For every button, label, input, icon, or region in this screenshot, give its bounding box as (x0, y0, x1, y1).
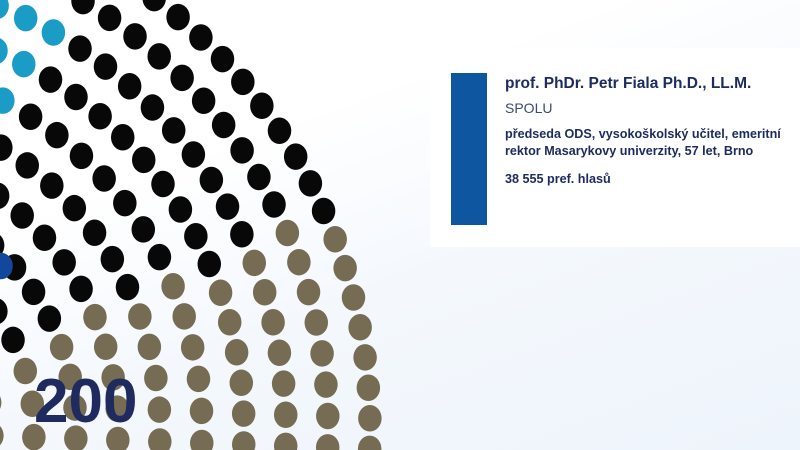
seat-dot[interactable] (111, 124, 134, 151)
seat-dot[interactable] (274, 402, 298, 429)
seat-dot[interactable] (0, 298, 8, 325)
seat-dot[interactable] (312, 198, 336, 225)
seat-dot[interactable] (211, 46, 235, 73)
seat-dot[interactable] (42, 19, 66, 46)
seat-dot[interactable] (310, 340, 334, 367)
seat-dot[interactable] (52, 249, 76, 276)
seat-dot[interactable] (323, 226, 347, 253)
seat-dot[interactable] (243, 250, 267, 277)
seat-dot[interactable] (253, 279, 277, 306)
seat-dot[interactable] (132, 216, 156, 243)
seat-dot[interactable] (170, 65, 194, 92)
seat-dot[interactable] (274, 433, 298, 450)
candidate-party-label: SPOLU (505, 100, 794, 117)
seat-dot[interactable] (19, 103, 42, 130)
seat-dot[interactable] (250, 93, 274, 120)
seat-dot[interactable] (218, 309, 242, 336)
seat-dot[interactable] (268, 117, 292, 144)
seat-dot[interactable] (113, 190, 137, 217)
seat-dot[interactable] (147, 43, 171, 70)
seat-dot[interactable] (316, 403, 340, 430)
seat-dot[interactable] (230, 221, 254, 248)
seat-dot[interactable] (181, 334, 205, 361)
seat-dot[interactable] (94, 53, 118, 80)
seat-dot[interactable] (118, 73, 142, 100)
seat-dot[interactable] (261, 309, 285, 336)
seat-dot[interactable] (144, 365, 168, 392)
seat-dot[interactable] (132, 147, 156, 174)
party-color-bar (451, 73, 487, 225)
seat-dot[interactable] (50, 334, 74, 361)
seat-dot[interactable] (39, 66, 63, 93)
seat-dot[interactable] (166, 4, 190, 31)
seat-dot[interactable] (0, 422, 4, 449)
candidate-description: předseda ODS, vysokoškolský učitel, emer… (505, 126, 794, 161)
seat-dot[interactable] (38, 305, 62, 332)
seat-dot[interactable] (284, 143, 308, 170)
seat-dot[interactable] (148, 428, 172, 450)
seat-dot[interactable] (88, 103, 112, 130)
seat-dot[interactable] (138, 334, 162, 361)
seat-dot[interactable] (272, 370, 296, 397)
seat-dot[interactable] (0, 37, 8, 64)
seat-dot[interactable] (198, 251, 222, 278)
seat-dot[interactable] (353, 344, 377, 371)
seat-dot[interactable] (33, 225, 57, 252)
seat-dot[interactable] (12, 51, 35, 78)
total-seats-label: 200 (34, 371, 137, 433)
seat-dot[interactable] (184, 223, 208, 250)
seat-dot[interactable] (151, 171, 175, 198)
seat-dot[interactable] (10, 202, 34, 229)
seat-dot[interactable] (230, 137, 254, 164)
seat-dot[interactable] (358, 436, 382, 450)
preferential-votes-label: 38 555 pref. hlasů (505, 171, 794, 187)
seat-dot[interactable] (0, 134, 13, 161)
seat-dot[interactable] (68, 35, 92, 62)
seat-dot[interactable] (141, 94, 165, 121)
seat-dot[interactable] (225, 339, 249, 366)
seat-dot[interactable] (358, 405, 382, 432)
seat-dot[interactable] (232, 431, 256, 450)
seat-dot[interactable] (348, 314, 372, 341)
seat-dot[interactable] (1, 327, 25, 354)
candidate-tooltip-body: prof. PhDr. Petr Fiala Ph.D., LL.M. SPOL… (487, 73, 800, 225)
seat-dot[interactable] (83, 304, 107, 331)
seat-dot[interactable] (182, 141, 206, 168)
seat-dot[interactable] (190, 430, 214, 450)
seat-dot[interactable] (299, 170, 323, 197)
seat-dot[interactable] (0, 183, 9, 210)
seat-dot[interactable] (216, 193, 240, 220)
seat-dot[interactable] (357, 375, 381, 402)
candidate-tooltip: prof. PhDr. Petr Fiala Ph.D., LL.M. SPOL… (430, 48, 800, 247)
seat-dot[interactable] (305, 309, 329, 336)
seat-dot[interactable] (169, 196, 193, 223)
seat-dot[interactable] (0, 87, 15, 114)
seat-dot[interactable] (101, 246, 125, 273)
seat-dot[interactable] (94, 334, 118, 361)
seat-dot[interactable] (314, 371, 338, 398)
seat-dot[interactable] (268, 340, 292, 367)
seat-dot[interactable] (162, 117, 186, 144)
seat-dot[interactable] (128, 303, 152, 330)
seat-dot[interactable] (92, 165, 116, 192)
seat-dot[interactable] (232, 400, 256, 427)
election-seat-chart-screen: 200 prof. PhDr. Petr Fiala Ph.D., LL.M. … (0, 0, 800, 450)
seat-dot[interactable] (230, 370, 254, 397)
seat-dot[interactable] (276, 220, 300, 247)
seat-dot[interactable] (40, 172, 64, 199)
seat-dot[interactable] (212, 112, 236, 139)
seat-dot[interactable] (0, 389, 1, 416)
seat-dot[interactable] (148, 244, 172, 271)
seat-dot[interactable] (172, 303, 196, 330)
seat-dot[interactable] (69, 276, 93, 303)
seat-dot[interactable] (187, 366, 211, 393)
seat-dot[interactable] (192, 88, 216, 115)
seat-dot[interactable] (0, 0, 9, 19)
seat-dot[interactable] (342, 284, 366, 311)
seat-dot[interactable] (287, 249, 311, 276)
seat-dot[interactable] (142, 0, 166, 11)
seat-dot[interactable] (247, 164, 271, 191)
seat-dot[interactable] (83, 220, 107, 247)
seat-dot[interactable] (333, 255, 357, 282)
seat-dot[interactable] (45, 122, 68, 149)
seat-dot[interactable] (316, 434, 340, 450)
seat-dot[interactable] (71, 0, 95, 14)
seat-dot[interactable] (200, 167, 224, 194)
seat-dot[interactable] (63, 195, 87, 222)
seat-dot[interactable] (297, 279, 321, 306)
seat-dot[interactable] (123, 23, 147, 50)
seat-dot[interactable] (98, 5, 122, 32)
seat-dot[interactable] (148, 396, 172, 423)
seat-dot[interactable] (14, 5, 38, 32)
seat-dot[interactable] (22, 279, 46, 306)
seat-dot[interactable] (189, 24, 213, 51)
seat-dot[interactable] (262, 191, 286, 218)
candidate-name: prof. PhDr. Petr Fiala Ph.D., LL.M. (505, 74, 794, 93)
seat-dot[interactable] (64, 84, 88, 111)
seat-dot[interactable] (209, 279, 233, 306)
seat-dot[interactable] (116, 274, 139, 301)
seat-dot[interactable] (161, 273, 185, 300)
seat-dot[interactable] (70, 143, 94, 170)
seat-dot[interactable] (231, 69, 255, 96)
seat-dot[interactable] (190, 398, 214, 425)
seat-dot[interactable] (15, 152, 38, 179)
